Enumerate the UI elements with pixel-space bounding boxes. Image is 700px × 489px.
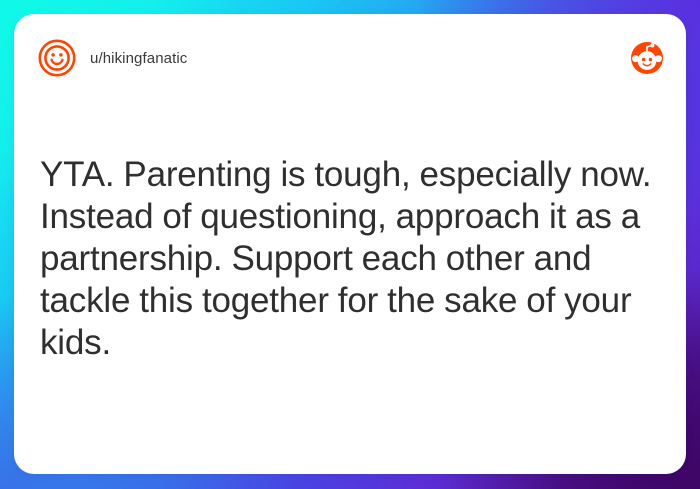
screenshot-stage: u/hikingfanatic YTA. Parenting is tough,… — [0, 0, 700, 489]
avatar — [38, 39, 76, 77]
post-header: u/hikingfanatic — [14, 14, 686, 102]
reddit-post-card: u/hikingfanatic YTA. Parenting is tough,… — [14, 14, 686, 474]
post-body-text: YTA. Parenting is tough, especially now.… — [40, 154, 660, 364]
username-label: u/hikingfanatic — [90, 50, 187, 67]
reddit-snoo-icon — [630, 41, 664, 75]
